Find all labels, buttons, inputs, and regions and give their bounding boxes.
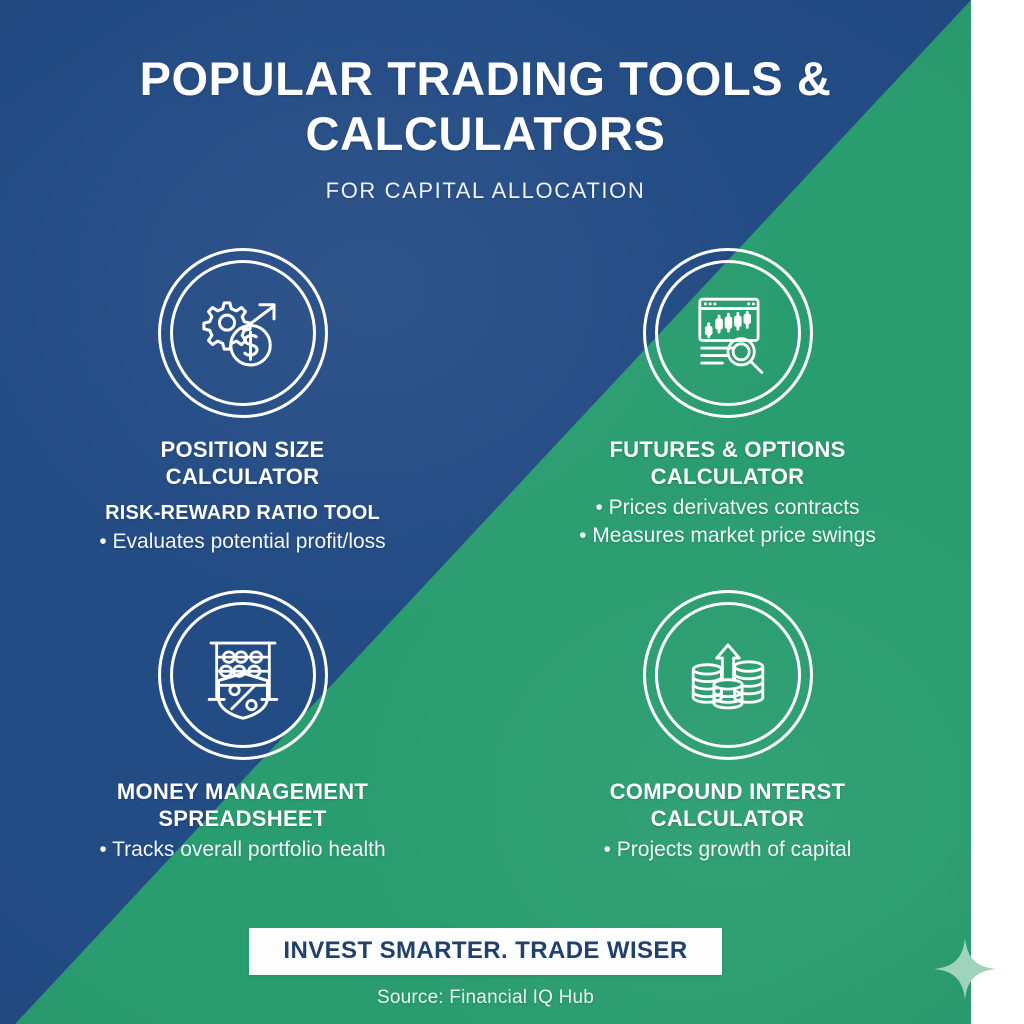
- tool-subtitle-1: RISK-REWARD RATIO TOOL: [105, 502, 380, 525]
- tool-title-2: FUTURES & OPTIONS CALCULATOR: [609, 436, 845, 490]
- tool-title-2-line1: FUTURES & OPTIONS: [609, 437, 845, 462]
- icon-ring-2: [643, 248, 813, 418]
- tool-title-2-line2: CALCULATOR: [651, 464, 805, 489]
- title-line-2: CALCULATORS: [96, 107, 876, 162]
- tool-card-futures-options-calculator: FUTURES & OPTIONS CALCULATOR • Prices de…: [485, 248, 970, 556]
- poster-footer: INVEST SMARTER. TRADE WISER Source: Fina…: [0, 928, 971, 1009]
- tool-title-4-line1: COMPOUND INTERST: [610, 779, 846, 804]
- tool-bullets-3: • Tracks overall portfolio health: [99, 836, 385, 864]
- right-white-margin: [971, 0, 1024, 1024]
- abacus-shield-percent-icon: [196, 628, 290, 722]
- tools-row-2: MONEY MANAGEMENT SPREADSHEET • Tracks ov…: [0, 590, 971, 864]
- tool-bullets-2: • Prices derivatves contracts • Measures…: [579, 494, 876, 550]
- list-item: • Projects growth of capital: [604, 836, 852, 864]
- list-item: • Evaluates potential profit/loss: [99, 528, 385, 556]
- list-item: • Prices derivatves contracts: [579, 494, 876, 522]
- page-title: POPULAR TRADING TOOLS & CALCULATORS: [96, 52, 876, 162]
- list-item: • Measures market price swings: [579, 522, 876, 550]
- icon-ring-1: [158, 248, 328, 418]
- tool-title-1-line1: POSITION SIZE: [160, 437, 324, 462]
- tool-title-1-line2: CALCULATOR: [166, 464, 320, 489]
- gear-dollar-growth-icon: [196, 286, 290, 380]
- tool-card-money-management-spreadsheet: MONEY MANAGEMENT SPREADSHEET • Tracks ov…: [0, 590, 485, 864]
- poster-canvas: POPULAR TRADING TOOLS & CALCULATORS FOR …: [0, 0, 971, 1024]
- tool-title-4: COMPOUND INTERST CALCULATOR: [610, 778, 846, 832]
- tool-title-4-line2: CALCULATOR: [651, 806, 805, 831]
- list-item: • Tracks overall portfolio health: [99, 836, 385, 864]
- candlestick-chart-magnifier-icon: [681, 286, 775, 380]
- tool-title-3: MONEY MANAGEMENT SPREADSHEET: [117, 778, 368, 832]
- tool-title-1: POSITION SIZE CALCULATOR: [160, 436, 324, 490]
- title-line-1: POPULAR TRADING TOOLS &: [140, 52, 832, 105]
- poster-header: POPULAR TRADING TOOLS & CALCULATORS FOR …: [0, 52, 971, 204]
- tagline-banner: INVEST SMARTER. TRADE WISER: [249, 928, 721, 975]
- icon-ring-4: [643, 590, 813, 760]
- tool-bullets-1: • Evaluates potential profit/loss: [99, 528, 385, 556]
- coin-stacks-arrow-up-icon: [681, 628, 775, 722]
- tool-title-3-line1: MONEY MANAGEMENT: [117, 779, 368, 804]
- tool-card-position-size-calculator: POSITION SIZE CALCULATOR RISK-REWARD RAT…: [0, 248, 485, 556]
- tools-row-1: POSITION SIZE CALCULATOR RISK-REWARD RAT…: [0, 248, 971, 556]
- tool-title-3-line2: SPREADSHEET: [158, 806, 326, 831]
- tools-grid: POSITION SIZE CALCULATOR RISK-REWARD RAT…: [0, 248, 971, 864]
- source-credit: Source: Financial IQ Hub: [0, 987, 971, 1009]
- tool-card-compound-interest-calculator: COMPOUND INTERST CALCULATOR • Projects g…: [485, 590, 970, 864]
- page-subtitle: FOR CAPITAL ALLOCATION: [0, 178, 971, 204]
- icon-ring-3: [158, 590, 328, 760]
- tool-bullets-4: • Projects growth of capital: [604, 836, 852, 864]
- infographic-poster: POPULAR TRADING TOOLS & CALCULATORS FOR …: [0, 0, 1024, 1024]
